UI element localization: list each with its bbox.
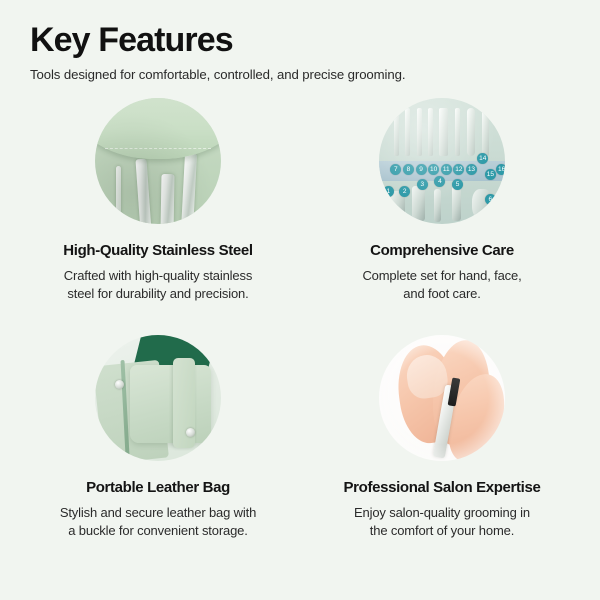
feature-description-line2: a buckle for convenient storage. <box>60 522 256 540</box>
feature-description: Crafted with high-quality stainless stee… <box>64 267 252 304</box>
feature-card-comprehensive-care: 7 8 9 10 11 12 13 14 15 16 1 2 3 4 5 6 C… <box>300 98 584 335</box>
feature-description-line2: the comfort of your home. <box>354 522 530 540</box>
feature-title: High-Quality Stainless Steel <box>63 242 252 260</box>
page-subtitle: Tools designed for comfortable, controll… <box>30 67 570 82</box>
feature-description: Enjoy salon-quality grooming in the comf… <box>354 504 530 541</box>
feature-description-line1: Complete set for hand, face, <box>362 268 521 283</box>
feature-description: Complete set for hand, face, and foot ca… <box>362 267 521 304</box>
feature-description-line1: Stylish and secure leather bag with <box>60 505 256 520</box>
bag-stud-bottom <box>186 428 195 437</box>
photo-shading <box>95 98 221 224</box>
bag-body <box>130 365 211 443</box>
photo-vignette <box>379 335 505 461</box>
feature-description-line1: Crafted with high-quality stainless <box>64 268 252 283</box>
feature-title: Comprehensive Care <box>370 242 514 260</box>
feature-card-leather-bag: Portable Leather Bag Stylish and secure … <box>16 335 300 572</box>
fingers-holding-nail-tool-photo <box>379 335 505 461</box>
page-title: Key Features <box>30 22 570 58</box>
portable-leather-bag-with-buckle-photo <box>95 335 221 461</box>
feature-description-line2: and foot care. <box>362 285 521 303</box>
sage-leather-case-with-stainless-tools-photo <box>95 98 221 224</box>
feature-description-line1: Enjoy salon-quality grooming in <box>354 505 530 520</box>
features-grid: High-Quality Stainless Steel Crafted wit… <box>0 98 600 572</box>
feature-card-salon-expertise: Professional Salon Expertise Enjoy salon… <box>300 335 584 572</box>
feature-description: Stylish and secure leather bag with a bu… <box>60 504 256 541</box>
page-header: Key Features Tools designed for comforta… <box>0 0 600 82</box>
feature-title: Portable Leather Bag <box>86 479 230 497</box>
feature-description-line2: steel for durability and precision. <box>64 285 252 303</box>
feature-card-stainless-steel: High-Quality Stainless Steel Crafted wit… <box>16 98 300 335</box>
photo-gloss <box>379 98 505 224</box>
feature-title: Professional Salon Expertise <box>344 479 541 497</box>
numbered-grooming-kit-set-photo: 7 8 9 10 11 12 13 14 15 16 1 2 3 4 5 6 <box>379 98 505 224</box>
